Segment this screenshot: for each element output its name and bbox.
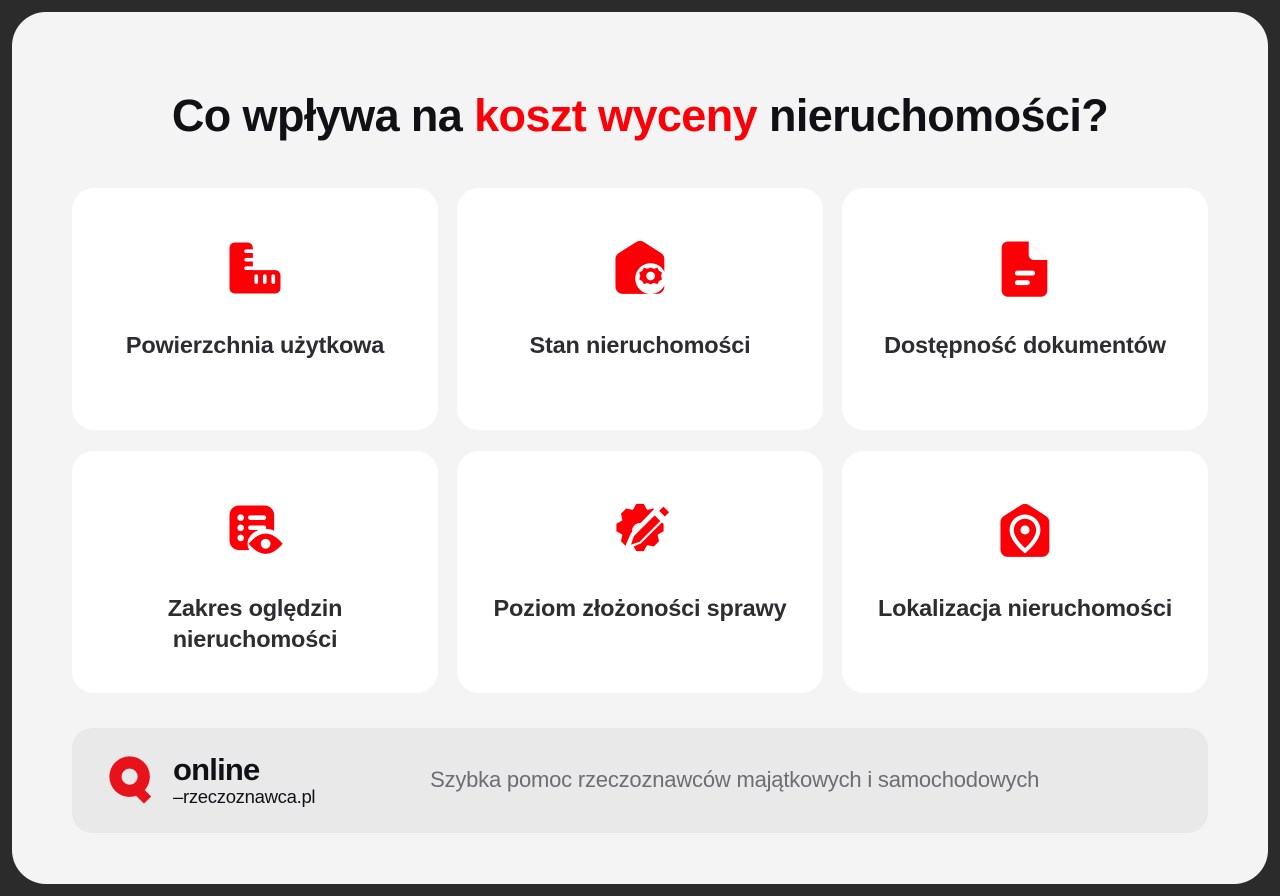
factor-card[interactable]: Zakres oględzin nieruchomości — [72, 451, 438, 693]
factor-card-label: Poziom złożoności sprawy — [494, 593, 787, 624]
footer-bar: online –rzeczoznawca.pl Szybka pomoc rze… — [72, 728, 1208, 833]
factor-card[interactable]: Dostępność dokumentów — [842, 188, 1208, 430]
factor-card[interactable]: Poziom złożoności sprawy — [457, 451, 823, 693]
page-title: Co wpływa na koszt wyceny nieruchomości? — [72, 90, 1208, 142]
factor-card[interactable]: Stan nieruchomości — [457, 188, 823, 430]
ruler-corner-icon — [221, 234, 289, 302]
house-pin-icon — [991, 497, 1059, 565]
q-magnifier-icon — [106, 753, 160, 807]
document-icon — [991, 234, 1059, 302]
factor-card[interactable]: Lokalizacja nieruchomości — [842, 451, 1208, 693]
title-part-1: Co wpływa na — [172, 90, 474, 141]
factor-card-grid: Powierzchnia użytkowa — [72, 188, 1208, 693]
factor-card[interactable]: Powierzchnia użytkowa — [72, 188, 438, 430]
factor-card-label: Stan nieruchomości — [529, 330, 750, 361]
title-accent: koszt wyceny — [474, 90, 757, 141]
title-part-2: nieruchomości? — [757, 90, 1108, 141]
factor-card-label: Lokalizacja nieruchomości — [878, 593, 1172, 624]
brand-logo[interactable]: online –rzeczoznawca.pl — [106, 753, 315, 807]
footer-tagline: Szybka pomoc rzeczoznawców majątkowych i… — [315, 767, 1174, 793]
screenshot-root: Co wpływa na koszt wyceny nieruchomości? — [0, 0, 1280, 896]
infographic-panel: Co wpływa na koszt wyceny nieruchomości? — [12, 12, 1268, 884]
checklist-eye-icon — [221, 497, 289, 565]
factor-card-label: Zakres oględzin nieruchomości — [105, 593, 405, 656]
brand-name-primary: online — [173, 754, 315, 785]
brand-wordmark: online –rzeczoznawca.pl — [173, 754, 315, 807]
factor-card-label: Powierzchnia użytkowa — [126, 330, 384, 361]
gear-pencil-icon — [606, 497, 674, 565]
factor-card-label: Dostępność dokumentów — [884, 330, 1166, 361]
brand-name-secondary: –rzeczoznawca.pl — [173, 788, 315, 807]
house-gear-icon — [606, 234, 674, 302]
